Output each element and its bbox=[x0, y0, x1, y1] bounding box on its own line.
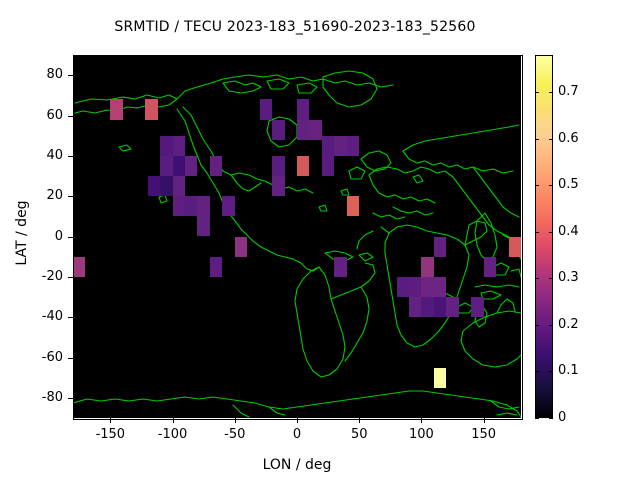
y-tick bbox=[68, 358, 73, 359]
colorbar-tick bbox=[549, 185, 553, 186]
heatmap-cell bbox=[434, 277, 446, 297]
x-tick bbox=[421, 418, 422, 423]
colorbar-tick-label: 0.6 bbox=[558, 131, 579, 146]
heatmap-cell bbox=[173, 196, 185, 216]
heatmap-cell bbox=[272, 176, 284, 196]
y-tick-label: -40 bbox=[19, 309, 63, 324]
colorbar-tick bbox=[549, 371, 553, 372]
heatmap-cell bbox=[173, 156, 185, 176]
heatmap-cell bbox=[409, 277, 421, 297]
y-tick bbox=[68, 196, 73, 197]
colorbar-tick bbox=[535, 325, 539, 326]
heatmap-cell bbox=[235, 237, 247, 257]
heatmap-cell bbox=[210, 156, 222, 176]
heatmap-cell bbox=[509, 237, 521, 257]
data-cells-layer bbox=[73, 55, 521, 418]
heatmap-cell bbox=[484, 257, 496, 277]
heatmap-cell bbox=[322, 136, 334, 156]
colorbar-tick bbox=[549, 278, 553, 279]
heatmap-cell bbox=[471, 297, 483, 317]
x-tick-label: 0 bbox=[267, 427, 327, 442]
x-tick-label: -100 bbox=[143, 427, 203, 442]
heatmap-cell bbox=[173, 136, 185, 156]
colorbar-tick-label: 0.2 bbox=[558, 317, 579, 332]
y-tick-label: 80 bbox=[19, 67, 63, 82]
y-tick-label: -60 bbox=[19, 350, 63, 365]
colorbar-tick bbox=[535, 418, 539, 419]
heatmap-cell bbox=[145, 99, 157, 119]
y-tick bbox=[68, 116, 73, 117]
heatmap-cell bbox=[309, 120, 321, 140]
heatmap-cell bbox=[185, 196, 197, 216]
y-tick-label: 60 bbox=[19, 108, 63, 123]
heatmap-cell bbox=[334, 136, 346, 156]
y-tick bbox=[68, 277, 73, 278]
y-tick-label: -80 bbox=[19, 390, 63, 405]
heatmap-cell bbox=[197, 196, 209, 216]
heatmap-cell bbox=[322, 156, 334, 176]
x-tick-label: -150 bbox=[80, 427, 140, 442]
colorbar-tick-label: 0.7 bbox=[558, 84, 579, 99]
colorbar-tick-label: 0.1 bbox=[558, 363, 579, 378]
y-tick bbox=[68, 237, 73, 238]
heatmap-cell bbox=[347, 196, 359, 216]
colorbar-tick bbox=[549, 92, 553, 93]
x-axis-title: LON / deg bbox=[73, 457, 521, 473]
heatmap-cell bbox=[160, 156, 172, 176]
colorbar-tick bbox=[535, 232, 539, 233]
x-tick bbox=[297, 418, 298, 423]
colorbar-tick-label: 0.5 bbox=[558, 177, 579, 192]
heatmap-cell bbox=[421, 257, 433, 277]
heatmap-cell bbox=[272, 120, 284, 140]
heatmap-cell bbox=[409, 297, 421, 317]
heatmap-cell bbox=[260, 99, 272, 119]
x-tick bbox=[484, 418, 485, 423]
y-tick bbox=[68, 75, 73, 76]
x-tick-label: 50 bbox=[329, 427, 389, 442]
heatmap-cell bbox=[446, 297, 458, 317]
colorbar-tick bbox=[549, 418, 553, 419]
heatmap-cell bbox=[160, 136, 172, 156]
heatmap-cell bbox=[210, 257, 222, 277]
colorbar-tick bbox=[535, 371, 539, 372]
colorbar[interactable] bbox=[535, 55, 553, 418]
heatmap-cell bbox=[434, 297, 446, 317]
heatmap-cell bbox=[421, 297, 433, 317]
x-tick bbox=[235, 418, 236, 423]
heatmap-cell bbox=[421, 277, 433, 297]
heatmap-cell bbox=[297, 156, 309, 176]
heatmap-cell bbox=[73, 257, 85, 277]
heatmap-cell bbox=[272, 156, 284, 176]
colorbar-tick bbox=[535, 139, 539, 140]
colorbar-tick-label: 0.3 bbox=[558, 270, 579, 285]
heatmap-cell bbox=[148, 176, 160, 196]
heatmap-cell bbox=[434, 368, 446, 388]
colorbar-tick bbox=[549, 232, 553, 233]
heatmap-cell bbox=[297, 120, 309, 140]
heatmap-cell bbox=[397, 277, 409, 297]
y-tick-label: 40 bbox=[19, 148, 63, 163]
heatmap-cell bbox=[185, 156, 197, 176]
x-tick-label: 150 bbox=[454, 427, 514, 442]
colorbar-tick bbox=[535, 278, 539, 279]
x-tick bbox=[359, 418, 360, 423]
heatmap-cell bbox=[334, 257, 346, 277]
colorbar-tick bbox=[549, 139, 553, 140]
heatmap-cell bbox=[160, 176, 172, 196]
x-tick bbox=[110, 418, 111, 423]
heatmap-cell bbox=[297, 99, 309, 119]
heatmap-cell bbox=[110, 99, 122, 119]
chart-root: SRMTID / TECU 2023-183_51690-2023-183_52… bbox=[0, 0, 640, 480]
colorbar-tick-label: 0 bbox=[558, 410, 566, 425]
y-tick bbox=[68, 398, 73, 399]
page-title: SRMTID / TECU 2023-183_51690-2023-183_52… bbox=[0, 19, 590, 35]
heatmap-cell bbox=[222, 196, 234, 216]
y-axis-title: LAT / deg bbox=[14, 178, 30, 288]
colorbar-tick bbox=[535, 92, 539, 93]
heatmap-cell bbox=[197, 216, 209, 236]
colorbar-tick bbox=[535, 185, 539, 186]
x-tick-label: -50 bbox=[205, 427, 265, 442]
x-tick bbox=[173, 418, 174, 423]
heatmap-cell bbox=[173, 176, 185, 196]
colorbar-tick-label: 0.4 bbox=[558, 224, 579, 239]
y-tick bbox=[68, 156, 73, 157]
y-tick bbox=[68, 317, 73, 318]
colorbar-tick bbox=[549, 325, 553, 326]
map-plot-area[interactable] bbox=[73, 55, 521, 418]
x-tick-label: 100 bbox=[391, 427, 451, 442]
heatmap-cell bbox=[347, 136, 359, 156]
heatmap-cell bbox=[434, 237, 446, 257]
